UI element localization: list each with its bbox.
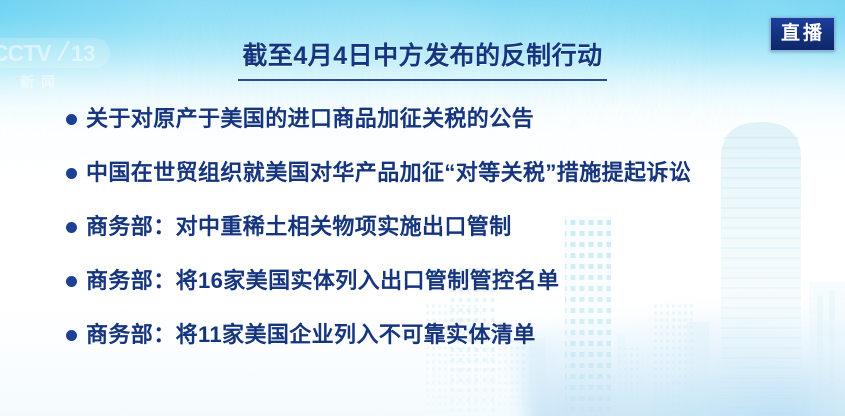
bullet-dot-icon: [66, 168, 77, 179]
bullet-list: 关于对原产于美国的进口商品加征关税的公告 中国在世贸组织就美国对华产品加征“对等…: [66, 103, 826, 373]
list-item: 商务部：将11家美国企业列入不可靠实体清单: [66, 319, 826, 373]
list-item-label: 商务部：将11家美国企业列入不可靠实体清单: [86, 319, 536, 351]
bullet-dot-icon: [66, 222, 77, 233]
list-item: 关于对原产于美国的进口商品加征关税的公告: [66, 103, 826, 157]
list-item: 商务部：对中重稀土相关物项实施出口管制: [66, 211, 826, 265]
bullet-dot-icon: [66, 114, 77, 125]
headline-container: 截至4月4日中方发布的反制行动: [0, 42, 845, 81]
list-item-label: 关于对原产于美国的进口商品加征关税的公告: [86, 103, 534, 135]
list-item-label: 商务部：对中重稀土相关物项实施出口管制: [86, 211, 512, 243]
list-item-label: 商务部：将16家美国实体列入出口管制管控名单: [86, 265, 559, 297]
broadcast-lower-third-graphic: CCTV 13 新闻 直播 截至4月4日中方发布的反制行动 关于对原产于美国的进…: [0, 0, 845, 416]
bullet-dot-icon: [66, 276, 77, 287]
list-item-label: 中国在世贸组织就美国对华产品加征“对等关税”措施提起诉讼: [86, 157, 691, 189]
bullet-dot-icon: [66, 330, 77, 341]
list-item: 商务部：将16家美国实体列入出口管制管控名单: [66, 265, 826, 319]
list-item: 中国在世贸组织就美国对华产品加征“对等关税”措施提起诉讼: [66, 157, 826, 211]
page-title: 截至4月4日中方发布的反制行动: [238, 42, 606, 81]
